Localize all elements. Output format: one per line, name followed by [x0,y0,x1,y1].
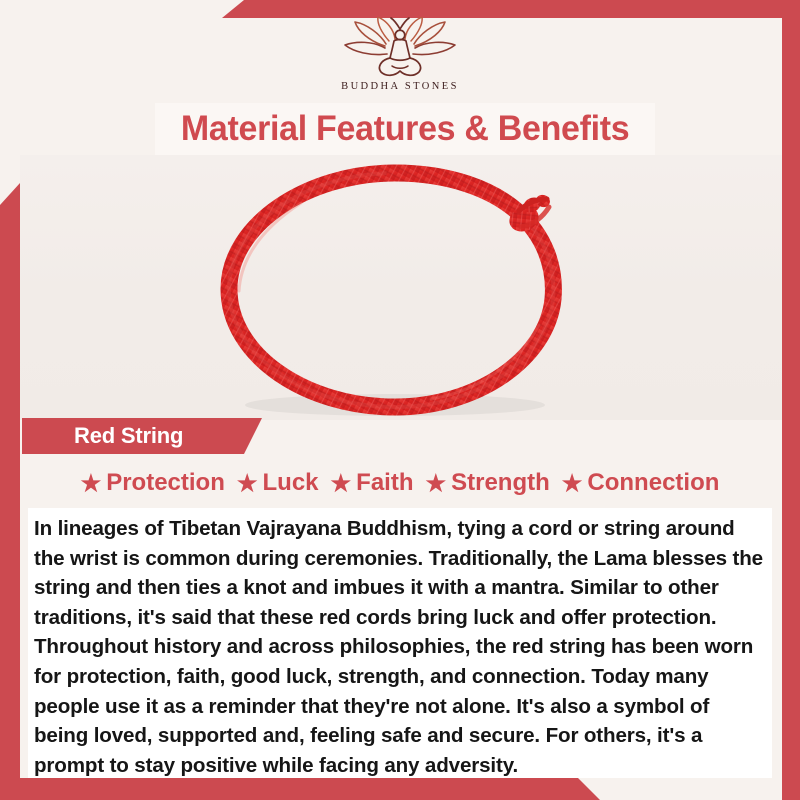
feature-item-strength: ★ Strength [419,469,555,497]
feature-item-luck: ★ Luck [231,469,325,497]
product-photo [20,155,782,420]
lotus-meditation-figure-icon [339,17,461,79]
brand-logo: BUDDHA STONES [339,17,461,92]
decorative-bar-left [0,183,20,800]
material-label-text: Red String [74,423,183,449]
star-icon: ★ [425,472,446,495]
brand-name: BUDDHA STONES [341,81,459,92]
title-banner: Material Features & Benefits [155,103,655,155]
feature-label: Faith [356,469,413,497]
feature-label: Strength [451,469,550,497]
star-icon: ★ [331,472,352,495]
feature-label: Luck [263,469,319,497]
material-label-banner: Red String [22,418,262,454]
feature-item-connection: ★ Connection [556,469,726,497]
infographic-poster: BUDDHA STONES Material Features & Benefi… [0,0,800,800]
star-icon: ★ [81,472,102,495]
feature-label: Protection [106,469,225,497]
feature-item-protection: ★ Protection [75,469,231,497]
description-text: In lineages of Tibetan Vajrayana Buddhis… [34,514,764,780]
decorative-bar-bottom [0,778,600,800]
feature-label: Connection [587,469,719,497]
feature-list: ★ Protection ★ Luck ★ Faith ★ Strength ★… [22,463,778,503]
feature-item-faith: ★ Faith [325,469,420,497]
description-panel: In lineages of Tibetan Vajrayana Buddhis… [28,508,772,778]
page-title: Material Features & Benefits [181,109,629,149]
star-icon: ★ [562,472,583,495]
decorative-bar-right [782,18,800,800]
star-icon: ★ [237,472,258,495]
red-string-bracelet-image [181,159,621,420]
brand-header: BUDDHA STONES [0,0,800,100]
